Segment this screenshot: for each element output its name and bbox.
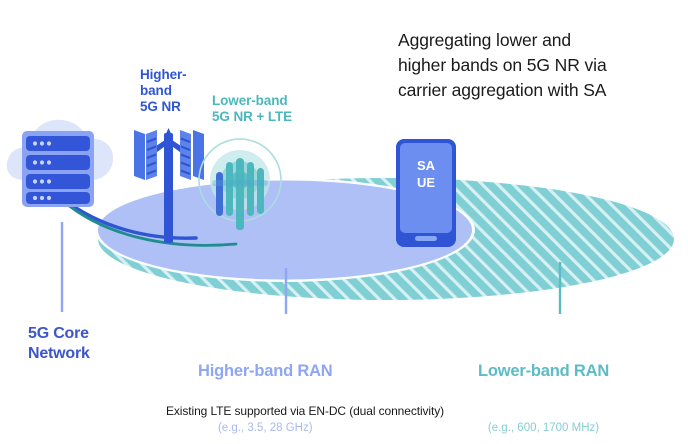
label-group-lower-band-ran: Lower-band RAN (e.g., 600, 1700 MHz) bbox=[478, 324, 609, 444]
label-higher-band-ran-sub: (e.g., 3.5, 28 GHz) bbox=[198, 422, 333, 436]
headline-title: Aggregating lower and higher bands on 5G… bbox=[398, 28, 607, 103]
server-stack-icon bbox=[22, 131, 94, 207]
label-higher-band-5g-nr: Higher- band 5G NR bbox=[140, 67, 187, 115]
device-badge-sa-ue: SA UE bbox=[404, 158, 448, 191]
label-lower-band-ran-sub: (e.g., 600, 1700 MHz) bbox=[478, 422, 609, 436]
label-5g-core-network: 5G Core Network bbox=[28, 324, 90, 365]
label-group-higher-band-ran: Higher-band RAN (e.g., 3.5, 28 GHz) bbox=[198, 324, 333, 444]
label-higher-band-ran: Higher-band RAN bbox=[198, 362, 333, 381]
label-lower-band-ran: Lower-band RAN bbox=[478, 362, 609, 381]
smartphone-icon bbox=[396, 139, 456, 247]
footnote-caption: Existing LTE supported via EN-DC (dual c… bbox=[166, 404, 444, 418]
diagram-canvas: Aggregating lower and higher bands on 5G… bbox=[0, 0, 688, 444]
label-lower-band-5g-nr-lte: Lower-band 5G NR + LTE bbox=[212, 93, 292, 125]
